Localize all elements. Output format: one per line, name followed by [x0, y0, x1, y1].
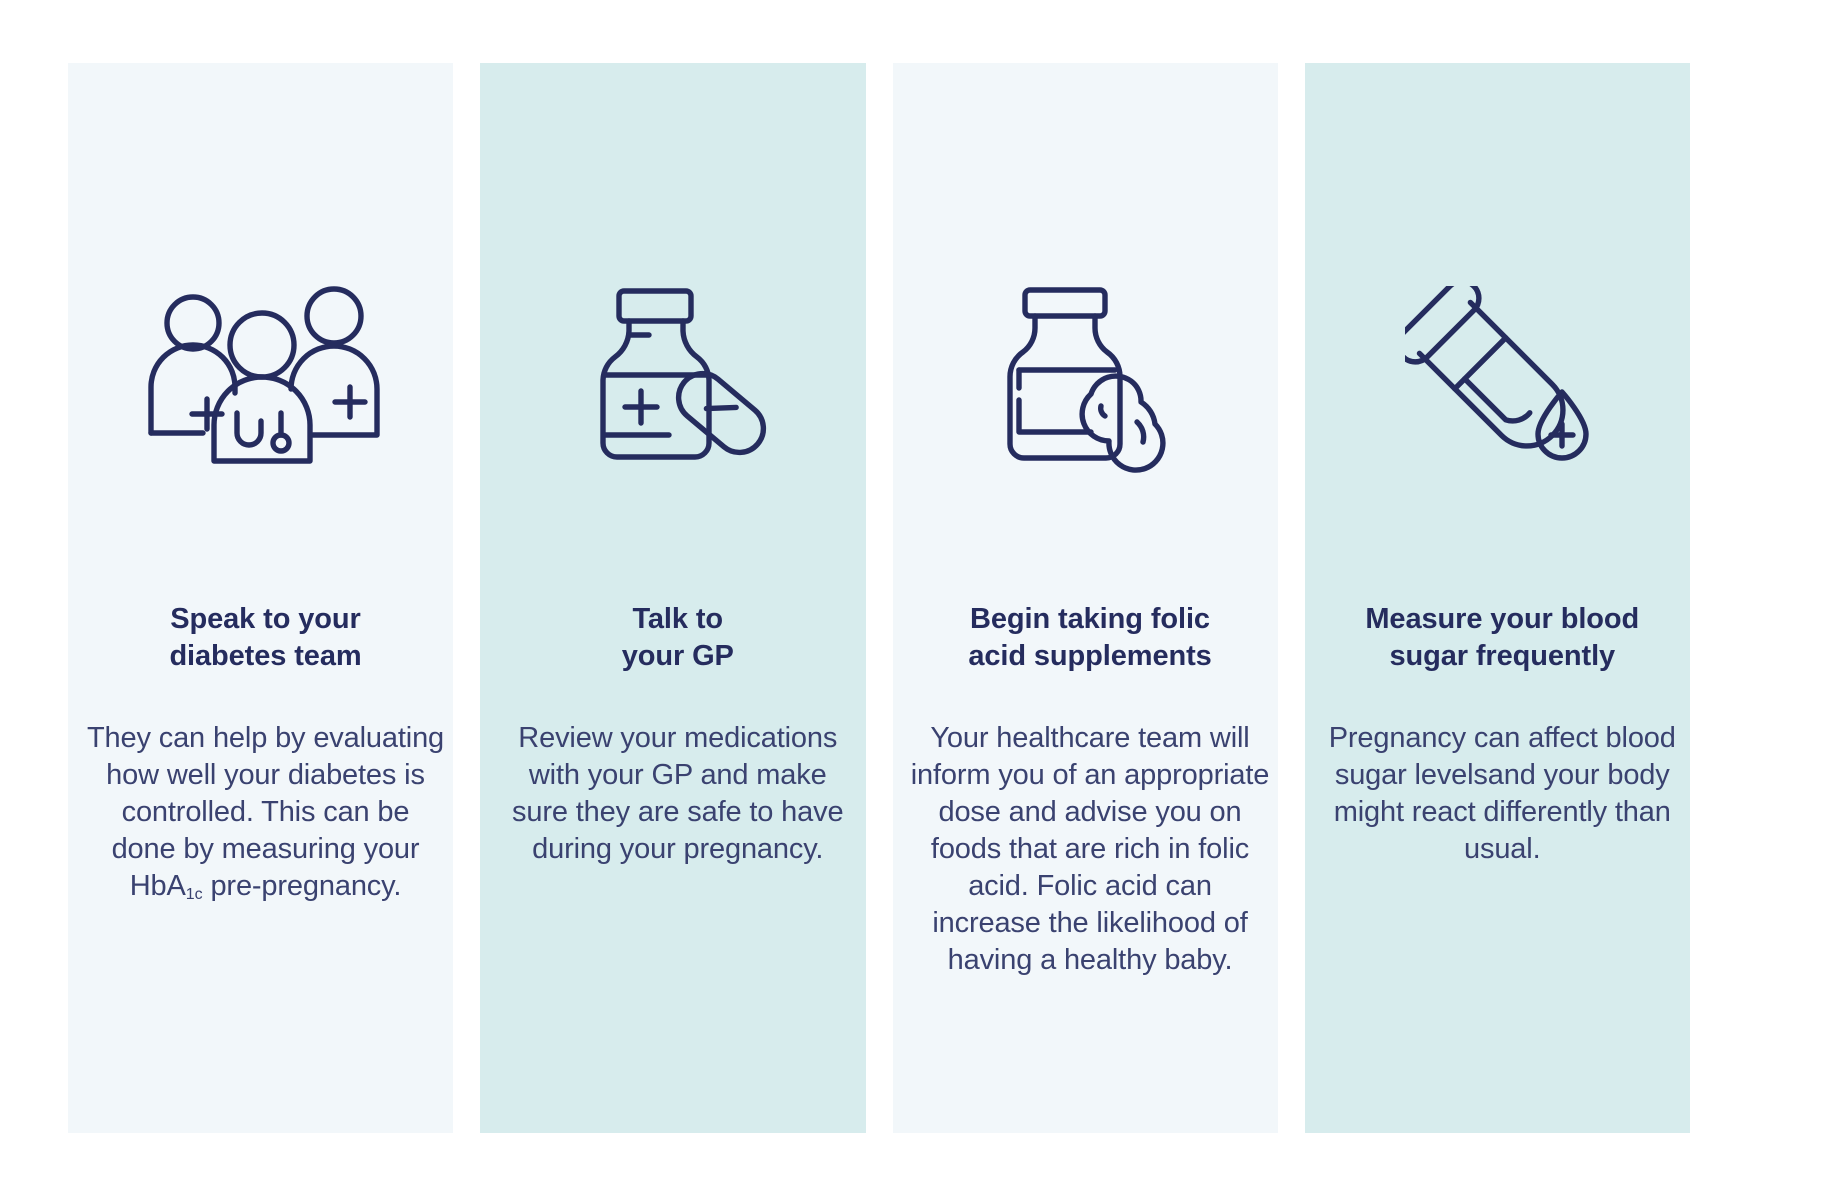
card-columns: Speak to your diabetes team They can hel… — [68, 63, 1690, 1133]
blood-test-tube-drop-icon — [1305, 258, 1700, 498]
card-measure-blood-sugar: Measure your blood sugar frequently Preg… — [1305, 63, 1690, 1133]
card-begin-folic-acid: Begin taking folic acid supplements Your… — [893, 63, 1278, 1133]
card-body-text: Pregnancy can affect blood sugar levelsa… — [1305, 720, 1700, 872]
card-body-text: Review your medications with your GP and… — [480, 720, 875, 872]
card-body-text: They can help by evaluating how well you… — [68, 720, 463, 909]
card-heading: Begin taking folic acid supplements — [893, 601, 1288, 675]
supplement-jar-peanut-icon — [893, 258, 1288, 498]
card-heading: Speak to your diabetes team — [68, 601, 463, 675]
card-talk-to-your-gp: Talk to your GP Review your medications … — [480, 63, 865, 1133]
infographic-root: Speak to your diabetes team They can hel… — [0, 0, 1840, 1200]
body-text-tail: pre-pregnancy. — [203, 870, 402, 902]
body-text-main: Review your medications with your GP and… — [512, 722, 843, 865]
card-heading: Talk to your GP — [480, 601, 875, 675]
card-speak-to-diabetes-team: Speak to your diabetes team They can hel… — [68, 63, 453, 1133]
card-body-text: Your healthcare team will inform you of … — [893, 720, 1288, 983]
medicine-bottle-pill-icon — [480, 258, 875, 498]
card-heading: Measure your blood sugar frequently — [1305, 601, 1700, 675]
body-text-main: Your healthcare team will inform you of … — [911, 722, 1270, 976]
body-text-main: Pregnancy can affect blood sugar levelsa… — [1329, 722, 1676, 865]
body-text-subscript: 1c — [186, 886, 203, 903]
medical-team-icon — [68, 258, 463, 498]
